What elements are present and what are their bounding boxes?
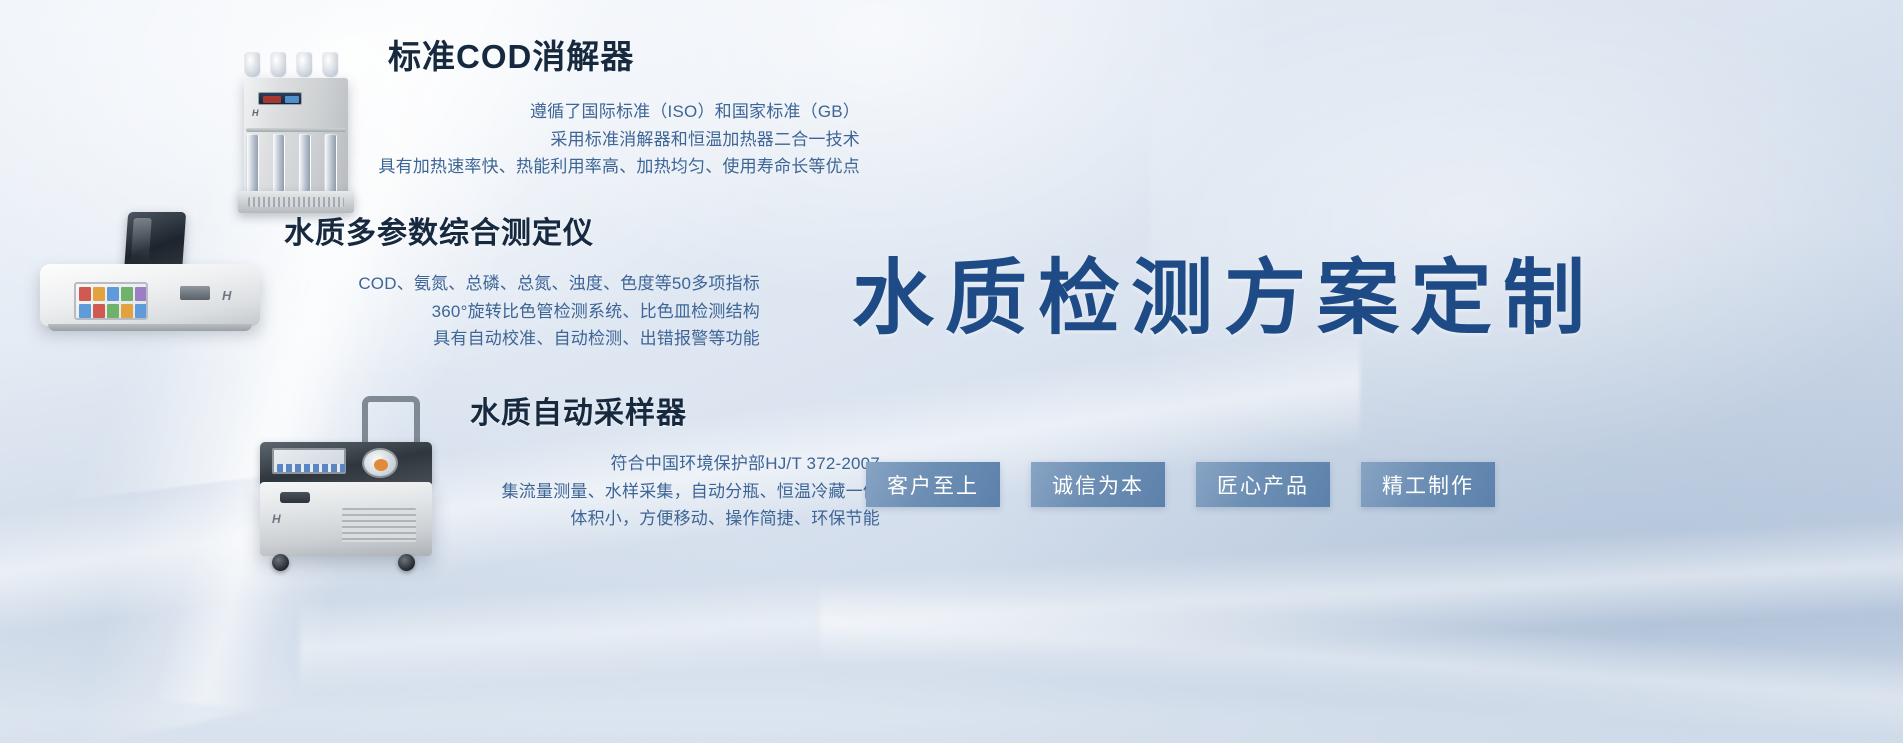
brand-mark-icon: H xyxy=(272,512,281,526)
product-description-line: 集流量测量、水样采集，自动分瓶、恒温冷藏一体 xyxy=(320,478,880,506)
glass-flask xyxy=(270,52,287,78)
keypad-row xyxy=(79,287,147,301)
analyzer-keypad-screen xyxy=(74,282,148,320)
caster-wheel xyxy=(272,554,289,571)
product-description-line: 体积小，方便移动、操作简捷、环保节能 xyxy=(320,505,880,533)
lid-glare xyxy=(131,218,152,262)
product-block-water-sampler: 水质自动采样器 符合中国环境保护部HJ/T 372-2007 集流量测量、水样采… xyxy=(320,388,880,533)
product-description-line: 具有加热速率快、热能利用率高、加热均匀、使用寿命长等优点 xyxy=(300,153,860,181)
digestion-tube xyxy=(246,134,259,196)
product-description-line: 采用标准消解器和恒温加热器二合一技术 xyxy=(300,126,860,154)
display-segment-blue xyxy=(285,96,299,103)
vent-grille xyxy=(248,197,344,207)
digestor-display-panel xyxy=(258,92,302,105)
product-title: 水质自动采样器 xyxy=(320,388,880,432)
caster-wheel xyxy=(398,554,415,571)
product-block-cod-digestor: 标准COD消解器 遵循了国际标准（ISO）和国家标准（GB） 采用标准消解器和恒… xyxy=(300,30,860,181)
product-description-line: 具有自动校准、自动检测、出错报警等功能 xyxy=(200,325,760,353)
slogan-badge-group: 客户至上 诚信为本 匠心产品 精工制作 xyxy=(866,462,1495,507)
product-title: 水质多参数综合测定仪 xyxy=(200,208,760,252)
product-description-line: COD、氨氮、总磷、总氮、浊度、色度等50多项指标 xyxy=(200,270,760,298)
promotional-banner: H H xyxy=(0,0,1903,743)
product-description-line: 遵循了国际标准（ISO）和国家标准（GB） xyxy=(300,98,860,126)
cabinet-door-handle xyxy=(280,492,310,503)
product-description-line: 360°旋转比色管检测系统、比色皿检测结构 xyxy=(200,298,760,326)
product-title: 标准COD消解器 xyxy=(300,30,860,78)
bottom-fade-decoration xyxy=(0,620,1903,743)
slogan-badge-customer-first[interactable]: 客户至上 xyxy=(866,462,1000,507)
digestion-tube xyxy=(272,134,285,196)
slogan-badge-fine-manufacturing[interactable]: 精工制作 xyxy=(1361,462,1495,507)
product-description: 符合中国环境保护部HJ/T 372-2007 集流量测量、水样采集，自动分瓶、恒… xyxy=(320,450,880,533)
keypad-row xyxy=(79,304,147,318)
brand-mark-icon: H xyxy=(252,108,278,120)
slogan-badge-craftsmanship[interactable]: 匠心产品 xyxy=(1196,462,1330,507)
display-segment-red xyxy=(263,96,281,103)
product-block-multi-parameter-analyzer: 水质多参数综合测定仪 COD、氨氮、总磷、总氮、浊度、色度等50多项指标 360… xyxy=(200,208,760,353)
wave-streak-decoration xyxy=(820,560,1903,743)
glass-flask xyxy=(244,52,261,78)
banner-headline: 水质检测方案定制 xyxy=(852,231,1852,350)
product-description: COD、氨氮、总磷、总氮、浊度、色度等50多项指标 360°旋转比色管检测系统、… xyxy=(200,270,760,353)
slogan-badge-integrity[interactable]: 诚信为本 xyxy=(1031,462,1165,507)
product-description: 遵循了国际标准（ISO）和国家标准（GB） 采用标准消解器和恒温加热器二合一技术… xyxy=(300,98,860,181)
product-description-line: 符合中国环境保护部HJ/T 372-2007 xyxy=(320,450,880,478)
